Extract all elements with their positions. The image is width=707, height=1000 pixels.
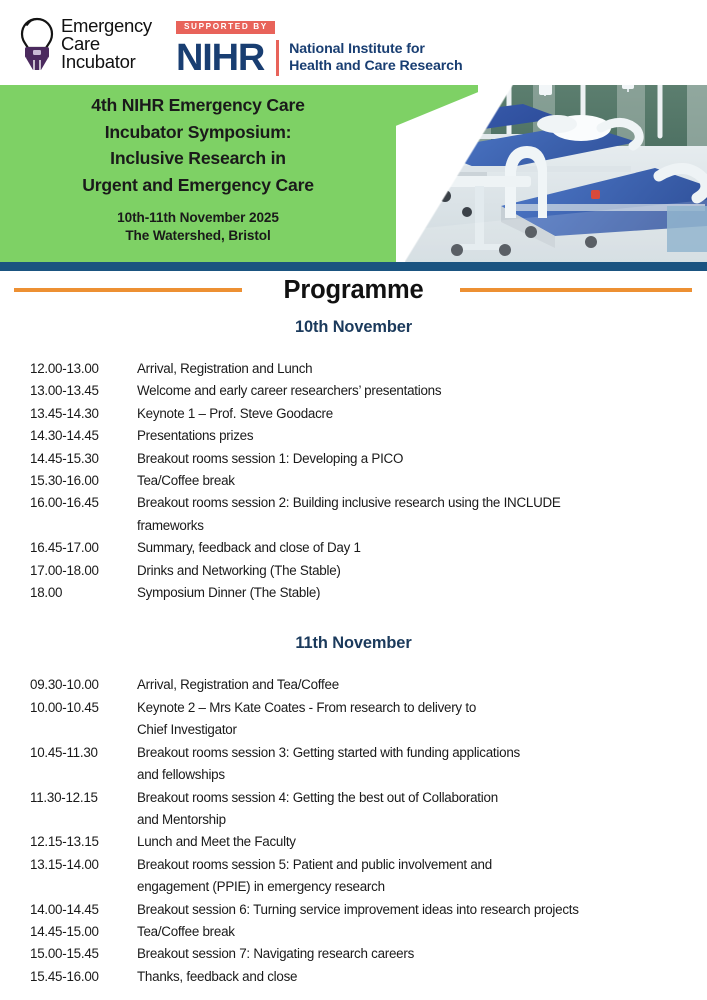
row-description: Tea/Coffee break: [137, 470, 689, 492]
row-description-line-2: engagement (PPIE) in emergency research: [137, 876, 689, 898]
table-row: 15.30-16.00 Tea/Coffee break: [0, 470, 707, 492]
table-row: 13.00-13.45 Welcome and early career res…: [0, 380, 707, 402]
symposium-title-line-1: 4th NIHR Emergency Care: [0, 92, 396, 119]
supported-by-badge: SUPPORTED BY: [176, 21, 275, 34]
row-description: Breakout session 7: Navigating research …: [137, 943, 689, 965]
day-heading-1: 10th November: [0, 316, 707, 338]
navy-divider-bar: [0, 262, 707, 271]
row-description-line-1: Breakout rooms session 3: Getting starte…: [137, 745, 520, 760]
emergency-care-incubator-logo: Emergency Care Incubator: [16, 14, 166, 74]
day-2-rows: 09.30-10.00 Arrival, Registration and Te…: [0, 674, 707, 988]
row-time: 15.45-16.00: [30, 966, 137, 988]
table-row: 11.30-12.15 Breakout rooms session 4: Ge…: [0, 787, 707, 832]
row-description: Breakout rooms session 1: Developing a P…: [137, 448, 689, 470]
table-row: 09.30-10.00 Arrival, Registration and Te…: [0, 674, 707, 696]
row-description-line-2: Chief Investigator: [137, 719, 689, 741]
row-description: Breakout rooms session 5: Patient and pu…: [137, 854, 689, 899]
row-time: 10.00-10.45: [30, 697, 137, 719]
row-description: Breakout rooms session 3: Getting starte…: [137, 742, 689, 787]
row-time: 11.30-12.15: [30, 787, 137, 809]
row-description: Tea/Coffee break: [137, 921, 689, 943]
row-time: 14.30-14.45: [30, 425, 137, 447]
nihr-full-name: National Institute for Health and Care R…: [289, 41, 462, 76]
row-description: Presentations prizes: [137, 425, 689, 447]
row-time: 12.15-13.15: [30, 831, 137, 853]
table-row: 15.00-15.45 Breakout session 7: Navigati…: [0, 943, 707, 965]
table-row: 12.15-13.15 Lunch and Meet the Faculty: [0, 831, 707, 853]
nihr-divider-bar: [276, 40, 279, 76]
row-description-line-2: frameworks: [137, 515, 689, 537]
table-row: 16.45-17.00 Summary, feedback and close …: [0, 537, 707, 559]
programme-heading-row: Programme: [0, 274, 707, 314]
row-time: 17.00-18.00: [30, 560, 137, 582]
row-description: Keynote 2 – Mrs Kate Coates - From resea…: [137, 697, 689, 742]
row-description: Arrival, Registration and Tea/Coffee: [137, 674, 689, 696]
day-heading-2: 11th November: [0, 632, 707, 654]
row-time: 15.30-16.00: [30, 470, 137, 492]
row-time: 10.45-11.30: [30, 742, 137, 764]
nihr-full-name-line-2: Health and Care Research: [289, 58, 462, 76]
row-time: 16.45-17.00: [30, 537, 137, 559]
row-description-line-1: Keynote 2 – Mrs Kate Coates - From resea…: [137, 700, 476, 715]
page-title: Programme: [0, 274, 707, 306]
nihr-lockup: NIHR National Institute for Health and C…: [176, 39, 472, 77]
row-description-line-1: Breakout rooms session 4: Getting the be…: [137, 790, 498, 805]
row-time: 09.30-10.00: [30, 674, 137, 696]
table-row: 17.00-18.00 Drinks and Networking (The S…: [0, 560, 707, 582]
symposium-title-line-4: Urgent and Emergency Care: [0, 172, 396, 199]
table-row: 10.45-11.30 Breakout rooms session 3: Ge…: [0, 742, 707, 787]
symposium-title-line-3: Inclusive Research in: [0, 145, 396, 172]
table-row: 16.00-16.45 Breakout rooms session 2: Bu…: [0, 492, 707, 537]
incubator-bulb-icon: [16, 16, 58, 72]
eci-word-incubator: Incubator: [61, 53, 152, 71]
programme-schedule: 10th November 12.00-13.00 Arrival, Regis…: [0, 316, 707, 988]
row-description-line-2: and Mentorship: [137, 809, 689, 831]
table-row: 10.00-10.45 Keynote 2 – Mrs Kate Coates …: [0, 697, 707, 742]
table-row: 13.15-14.00 Breakout rooms session 5: Pa…: [0, 854, 707, 899]
nihr-logo: SUPPORTED BY NIHR National Institute for…: [176, 16, 472, 78]
banner-text-block: 4th NIHR Emergency Care Incubator Sympos…: [0, 92, 396, 245]
row-time: 13.00-13.45: [30, 380, 137, 402]
table-row: 14.45-15.30 Breakout rooms session 1: De…: [0, 448, 707, 470]
row-description: Welcome and early career researchers’ pr…: [137, 380, 689, 402]
row-description: Breakout rooms session 2: Building inclu…: [137, 492, 689, 537]
row-description-line-1: Breakout rooms session 2: Building inclu…: [137, 495, 561, 510]
row-description: Breakout rooms session 4: Getting the be…: [137, 787, 689, 832]
row-time: 18.00: [30, 582, 137, 604]
row-description: Keynote 1 – Prof. Steve Goodacre: [137, 403, 689, 425]
row-description: Symposium Dinner (The Stable): [137, 582, 689, 604]
table-row: 12.00-13.00 Arrival, Registration and Lu…: [0, 358, 707, 380]
day-block-1: 10th November 12.00-13.00 Arrival, Regis…: [0, 316, 707, 604]
table-row: 14.00-14.45 Breakout session 6: Turning …: [0, 899, 707, 921]
row-time: 15.00-15.45: [30, 943, 137, 965]
row-time: 16.00-16.45: [30, 492, 137, 514]
row-description: Thanks, feedback and close: [137, 966, 689, 988]
table-row: 14.30-14.45 Presentations prizes: [0, 425, 707, 447]
symposium-date-venue: 10th-11th November 2025 The Watershed, B…: [0, 209, 396, 245]
symposium-title-line-2: Incubator Symposium:: [0, 119, 396, 146]
row-description-line-2: and fellowships: [137, 764, 689, 786]
symposium-date: 10th-11th November 2025: [0, 209, 396, 227]
row-description: Breakout session 6: Turning service impr…: [137, 899, 689, 921]
symposium-title: 4th NIHR Emergency Care Incubator Sympos…: [0, 92, 396, 198]
table-row: 15.45-16.00 Thanks, feedback and close: [0, 966, 707, 988]
table-row: 13.45-14.30 Keynote 1 – Prof. Steve Good…: [0, 403, 707, 425]
row-description: Summary, feedback and close of Day 1: [137, 537, 689, 559]
row-time: 14.00-14.45: [30, 899, 137, 921]
row-description: Lunch and Meet the Faculty: [137, 831, 689, 853]
row-description: Arrival, Registration and Lunch: [137, 358, 689, 380]
table-row: 18.00 Symposium Dinner (The Stable): [0, 582, 707, 604]
day-1-rows: 12.00-13.00 Arrival, Registration and Lu…: [0, 358, 707, 604]
symposium-venue: The Watershed, Bristol: [0, 227, 396, 245]
day-block-2: 11th November 09.30-10.00 Arrival, Regis…: [0, 632, 707, 988]
table-row: 14.45-15.00 Tea/Coffee break: [0, 921, 707, 943]
row-time: 14.45-15.00: [30, 921, 137, 943]
row-description: Drinks and Networking (The Stable): [137, 560, 689, 582]
row-time: 14.45-15.30: [30, 448, 137, 470]
nihr-full-name-line-1: National Institute for: [289, 41, 462, 59]
header-logo-strip: Emergency Care Incubator SUPPORTED BY NI…: [0, 0, 707, 85]
row-time: 13.15-14.00: [30, 854, 137, 876]
nihr-acronym: NIHR: [176, 39, 264, 77]
eci-wordmark: Emergency Care Incubator: [61, 17, 152, 72]
row-time: 12.00-13.00: [30, 358, 137, 380]
row-time: 13.45-14.30: [30, 403, 137, 425]
row-description-line-1: Breakout rooms session 5: Patient and pu…: [137, 857, 492, 872]
